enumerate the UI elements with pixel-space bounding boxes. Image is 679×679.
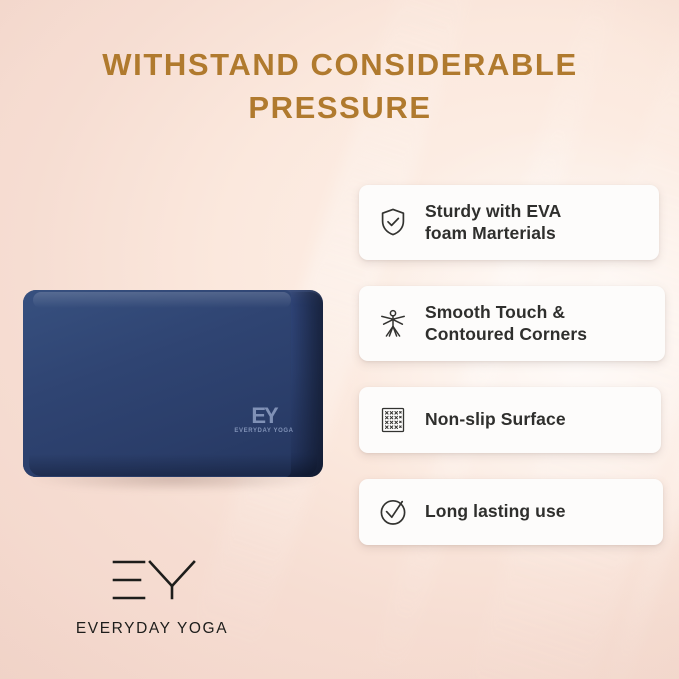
yoga-block-side-edge [289, 292, 323, 475]
yoga-block-highlight [33, 292, 291, 308]
feature-label-line-1: Long lasting use [425, 501, 566, 521]
feature-label-line-2: foam Marterials [425, 223, 556, 243]
product-image: EY EVERYDAY YOGA [23, 290, 323, 482]
headline: WITHSTAND CONSIDERABLE PRESSURE [60, 44, 620, 130]
feature-card-label: Sturdy with EVA foam Marterials [425, 200, 561, 245]
feature-card-label: Non-slip Surface [425, 408, 566, 430]
feature-list: Sturdy with EVA foam Marterials Smooth T… [359, 185, 655, 571]
feature-label-line-1: Sturdy with EVA [425, 201, 561, 221]
feature-card-label: Long lasting use [425, 500, 566, 522]
headline-line-2: PRESSURE [60, 87, 620, 130]
headline-line-1: WITHSTAND CONSIDERABLE [102, 47, 578, 82]
vitruvian-man-icon [375, 305, 411, 341]
shield-check-icon [375, 204, 411, 240]
yoga-block-front-face [23, 290, 291, 477]
yoga-block-bottom-shade [29, 454, 317, 476]
check-circle-icon [375, 494, 411, 530]
feature-card-label: Smooth Touch & Contoured Corners [425, 301, 587, 346]
yoga-block-body: EY EVERYDAY YOGA [23, 290, 323, 477]
feature-label-line-2: Contoured Corners [425, 324, 587, 344]
feature-label-line-1: Smooth Touch & [425, 302, 565, 322]
product-feature-poster: WITHSTAND CONSIDERABLE PRESSURE EY EVERY… [0, 0, 679, 679]
brand-logo-icon [22, 556, 282, 608]
feature-card-long-lasting: Long lasting use [359, 479, 663, 545]
feature-card-smooth-touch: Smooth Touch & Contoured Corners [359, 286, 665, 361]
grid-texture-icon [375, 402, 411, 438]
product-embossed-logo: EY EVERYDAY YOGA [221, 408, 307, 434]
feature-card-non-slip: Non-slip Surface [359, 387, 661, 453]
product-logo-mark: EY [221, 408, 307, 424]
brand-lockup: EVERYDAY YOGA [22, 556, 282, 638]
feature-label-line-1: Non-slip Surface [425, 409, 566, 429]
feature-card-sturdy: Sturdy with EVA foam Marterials [359, 185, 659, 260]
product-logo-text: EVERYDAY YOGA [221, 428, 307, 434]
brand-name: EVERYDAY YOGA [22, 620, 282, 638]
